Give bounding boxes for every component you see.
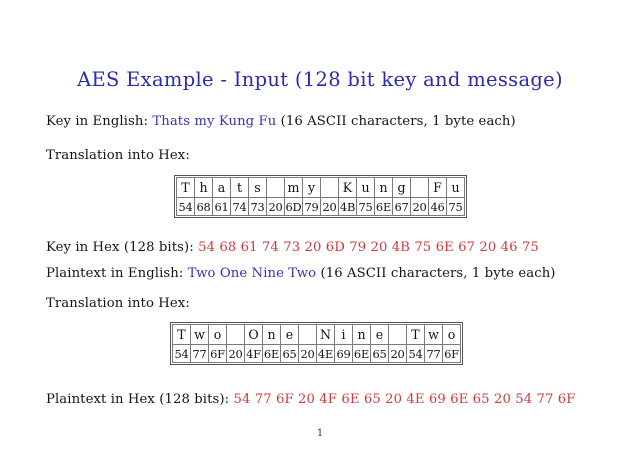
plaintext-char-cell: n [263,325,281,345]
plaintext-in-hex-value: 54 77 6F 20 4F 6E 65 20 4E 69 6E 65 20 5… [233,392,575,407]
key-char-cell: u [447,178,465,198]
key-char-cell: n [375,178,393,198]
key-in-hex-value: 54 68 61 74 73 20 6D 79 20 4B 75 6E 67 2… [198,240,539,255]
plaintext-char-cell: w [191,325,209,345]
plaintext-hex-cell: 65 [281,345,299,363]
key-hex-cell: 68 [195,198,213,216]
plaintext-in-hex-line: Plaintext in Hex (128 bits): 54 77 6F 20… [46,392,576,407]
key-hex-cell: 20 [267,198,285,216]
plaintext-hex-cell: 54 [407,345,425,363]
plaintext-char-cell: n [353,325,371,345]
key-hex-cell: 20 [321,198,339,216]
key-hex-cell: 6D [285,198,303,216]
plaintext-char-cell: N [317,325,335,345]
key-char-cell: u [357,178,375,198]
plaintext-hex-cell: 54 [173,345,191,363]
plaintext-char-cell: e [371,325,389,345]
key-char-cell: t [231,178,249,198]
plaintext-in-english-line: Plaintext in English: Two One Nine Two (… [46,266,556,281]
key-char-cell: y [303,178,321,198]
plaintext-hex-cell: 65 [371,345,389,363]
plaintext-table-chars-row: T w o O n e N i n e T w o [173,325,461,345]
plaintext-hex-cell: 4F [245,345,263,363]
key-hex-cell: 74 [231,198,249,216]
plaintext-char-cell: w [425,325,443,345]
plaintext-hex-cell: 69 [335,345,353,363]
key-char-cell: a [213,178,231,198]
key-char-cell: h [195,178,213,198]
key-in-hex-label: Key in Hex (128 bits): [46,240,194,255]
key-char-cell: s [249,178,267,198]
key-char-cell [267,178,285,198]
plaintext-hex-cell: 6F [443,345,461,363]
key-char-cell: g [393,178,411,198]
plaintext-hex-table: T w o O n e N i n e T w o 54 77 6F 20 4F… [172,324,461,363]
key-hex-cell: 67 [393,198,411,216]
key-hex-cell: 6E [375,198,393,216]
key-char-cell [321,178,339,198]
key-in-hex-line: Key in Hex (128 bits): 54 68 61 74 73 20… [46,240,539,255]
translation-into-hex-label-2: Translation into Hex: [46,296,190,311]
plaintext-hex-cell: 6F [209,345,227,363]
plaintext-char-cell: o [443,325,461,345]
plaintext-char-cell [389,325,407,345]
key-hex-cell: 4B [339,198,357,216]
key-char-cell: K [339,178,357,198]
plaintext-hex-cell: 20 [299,345,317,363]
key-hex-cell: 79 [303,198,321,216]
plaintext-hex-cell: 6E [353,345,371,363]
key-table-chars-row: T h a t s m y K u n g F u [177,178,465,198]
plaintext-hex-cell: 77 [191,345,209,363]
key-in-english-label: Key in English: [46,114,148,129]
plaintext-in-english-label: Plaintext in English: [46,266,183,281]
plaintext-char-cell: i [335,325,353,345]
key-hex-table: T h a t s m y K u n g F u 54 68 61 74 73… [176,177,465,216]
plaintext-char-cell [299,325,317,345]
key-char-cell: F [429,178,447,198]
plaintext-in-hex-label: Plaintext in Hex (128 bits): [46,392,229,407]
key-in-english-value: Thats my Kung Fu [152,114,276,129]
key-char-cell: T [177,178,195,198]
plaintext-in-english-note: (16 ASCII characters, 1 byte each) [320,266,555,281]
key-hex-cell: 61 [213,198,231,216]
plaintext-hex-cell: 4E [317,345,335,363]
key-hex-cell: 73 [249,198,267,216]
key-hex-cell: 54 [177,198,195,216]
plaintext-char-cell: T [173,325,191,345]
plaintext-hex-cell: 6E [263,345,281,363]
plaintext-hex-cell: 20 [227,345,245,363]
plaintext-char-cell: O [245,325,263,345]
plaintext-char-cell: T [407,325,425,345]
plaintext-char-cell: o [209,325,227,345]
key-char-cell [411,178,429,198]
key-in-english-line: Key in English: Thats my Kung Fu (16 ASC… [46,114,516,129]
plaintext-hex-cell: 20 [389,345,407,363]
key-hex-cell: 46 [429,198,447,216]
key-hex-cell: 75 [357,198,375,216]
key-char-cell: m [285,178,303,198]
translation-into-hex-label-1: Translation into Hex: [46,148,190,163]
plaintext-table-hex-row: 54 77 6F 20 4F 6E 65 20 4E 69 6E 65 20 5… [173,345,461,363]
plaintext-in-english-value: Two One Nine Two [188,266,316,281]
plaintext-hex-cell: 77 [425,345,443,363]
plaintext-char-cell: e [281,325,299,345]
page-number: 1 [0,428,640,439]
key-hex-cell: 75 [447,198,465,216]
slide-title: AES Example - Input (128 bit key and mes… [0,68,640,91]
slide-root: AES Example - Input (128 bit key and mes… [0,0,640,452]
key-hex-cell: 20 [411,198,429,216]
plaintext-char-cell [227,325,245,345]
key-table-hex-row: 54 68 61 74 73 20 6D 79 20 4B 75 6E 67 2… [177,198,465,216]
key-in-english-note: (16 ASCII characters, 1 byte each) [281,114,516,129]
